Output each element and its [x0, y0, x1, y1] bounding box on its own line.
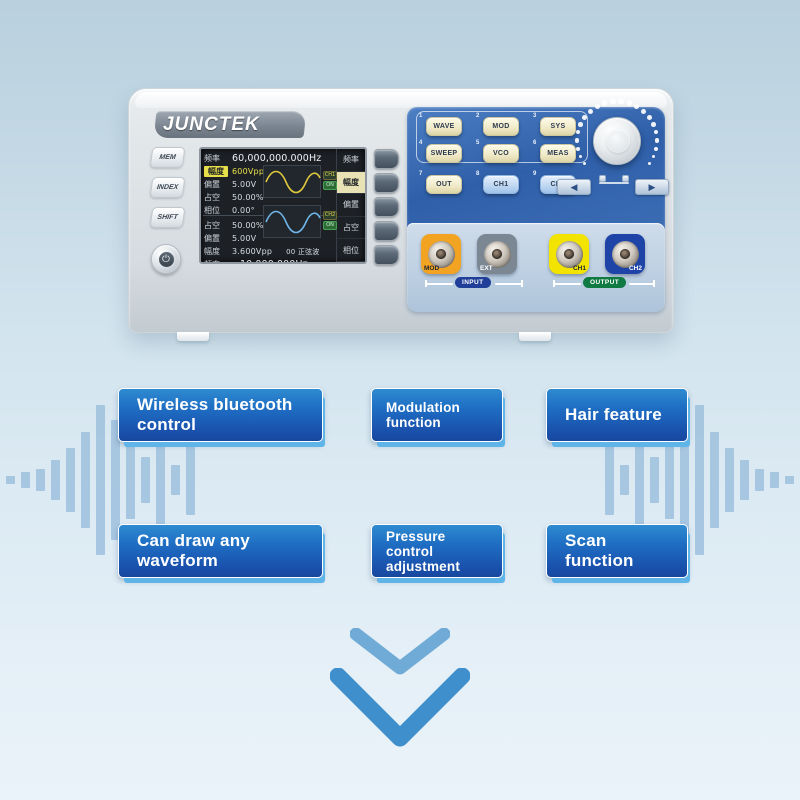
waveform-bar [66, 448, 75, 512]
waveform-bar [740, 460, 749, 500]
lcd-content: 频率 60,000,000.000Hz 幅度 600Vpp 00 正弦波 偏置 … [201, 149, 336, 262]
lcd-ch2-frequency-label: 频率 [204, 259, 228, 264]
softkey-button-4[interactable] [374, 221, 399, 241]
lcd-ch1-frequency-label: 频率 [204, 153, 228, 164]
feature-box-hair-feature[interactable]: Hair feature [546, 388, 688, 442]
waveform-bar [81, 432, 90, 528]
lcd-ch2-waveform-code: 00 正弦波 [286, 247, 319, 257]
waveform-bar [710, 432, 719, 528]
out-button[interactable]: OUT [426, 175, 462, 194]
bnc-mod-ring [428, 241, 455, 268]
feature-box-pressure-control-adjustment[interactable]: Pressure control adjustment [371, 524, 503, 578]
ch2-badge-label: CH2 [323, 211, 337, 220]
feature-box-can-draw-any-waveform[interactable]: Can draw any waveform [118, 524, 323, 578]
waveform-bar [695, 405, 704, 555]
ch1-sine-wave-icon [264, 166, 322, 199]
softkey-button-1[interactable] [374, 149, 399, 169]
feature-label-can-draw-any-waveform: Can draw any waveform [137, 531, 304, 571]
device-foot-left [177, 332, 209, 341]
lcd-ch2-offset-value: 5.00V [232, 234, 256, 243]
bnc-ch1-connector[interactable]: CH1 [549, 234, 589, 274]
bnc-ext-connector[interactable]: EXT [477, 234, 517, 274]
input-line-right [495, 283, 523, 285]
input-line-left [425, 283, 453, 285]
feature-box-wireless-bluetooth-control[interactable]: Wireless bluetooth control [118, 388, 323, 442]
device-foot-right [519, 332, 551, 341]
lcd-ch1-amplitude-value: 600Vpp [232, 167, 264, 176]
lcd-ch2-amplitude-label: 幅度 [204, 246, 228, 257]
brand-logo: JUNCTEK [163, 113, 303, 137]
output-tick-right [653, 280, 655, 287]
lcd-ch1-frequency-row: 频率 60,000,000.000Hz [204, 152, 334, 165]
bnc-ch2-connector[interactable]: CH2 [605, 234, 645, 274]
bnc-ch2-label: CH2 [629, 265, 642, 272]
chassis-top-edge [135, 92, 667, 108]
output-line-right [629, 283, 655, 285]
feature-label-modulation-function: Modulation function [386, 400, 488, 430]
ch2-badge-state: ON [323, 221, 337, 230]
bnc-mod-label: MOD [424, 265, 439, 272]
bnc-ext-ring [484, 241, 511, 268]
lcd-ch2-duty-label: 占空 [204, 220, 228, 231]
signal-generator-device: JUNCTEK MEM INDEX SHIFT ⏻ 频率 60,000,000.… [128, 88, 674, 333]
keypad-num-8: 8 [476, 171, 479, 177]
ch1-waveform-scope [263, 165, 321, 198]
softkey-label-amplitude[interactable]: 幅度 [337, 172, 365, 195]
ch1-status-badge: CH1 ON [323, 171, 337, 190]
lcd-display: 频率 60,000,000.000Hz 幅度 600Vpp 00 正弦波 偏置 … [199, 147, 367, 264]
waveform-bar [725, 448, 734, 512]
keypad-num-5: 5 [476, 140, 479, 146]
vco-button[interactable]: VCO [483, 144, 519, 163]
feature-label-scan-function: Scan function [565, 531, 669, 571]
lcd-ch2-amplitude-row: 幅度 3.600Vpp 00 正弦波 [204, 245, 334, 258]
waveform-bar [785, 476, 794, 484]
lcd-ch1-amplitude-label: 幅度 [204, 166, 228, 177]
ch1-button[interactable]: CH1 [483, 175, 519, 194]
lcd-ch1-duty-value: 50.00% [232, 193, 264, 202]
keypad-num-6: 6 [533, 140, 536, 146]
lcd-ch1-frequency-value: 60,000,000.000Hz [232, 153, 321, 164]
waveform-bar [6, 476, 15, 484]
device-chassis: JUNCTEK MEM INDEX SHIFT ⏻ 频率 60,000,000.… [128, 88, 674, 333]
feature-box-scan-function[interactable]: Scan function [546, 524, 688, 578]
keypad-num-2: 2 [476, 113, 479, 119]
output-tick-left [553, 280, 555, 287]
sweep-button[interactable]: SWEEP [426, 144, 462, 163]
bnc-ch2-ring [612, 241, 639, 268]
waveform-bar [171, 465, 180, 495]
mem-button[interactable]: MEM [150, 147, 186, 168]
lcd-softkey-labels: 频率 幅度 偏置 占空 相位 [336, 149, 365, 262]
ch1-badge-state: ON [323, 181, 337, 190]
waveform-bar [21, 472, 30, 488]
keypad-num-9: 9 [533, 171, 536, 177]
bnc-mod-connector[interactable]: MOD [421, 234, 461, 274]
waveform-bar [51, 460, 60, 500]
power-icon: ⏻ [159, 252, 174, 267]
lcd-ch1-phase-value: 0.00° [232, 206, 255, 215]
softkey-button-3[interactable] [374, 197, 399, 217]
bnc-ext-label: EXT [480, 265, 493, 272]
waveform-bar [126, 441, 135, 519]
mod-button[interactable]: MOD [483, 117, 519, 136]
waveform-bar [650, 457, 659, 503]
lcd-ch1-offset-value: 5.00V [232, 180, 256, 189]
meas-button[interactable]: MEAS [540, 144, 576, 163]
feature-label-wireless-bluetooth-control: Wireless bluetooth control [137, 395, 304, 435]
bnc-ch1-ring [556, 241, 583, 268]
feature-box-modulation-function[interactable]: Modulation function [371, 388, 503, 442]
ch2-sine-wave-icon [264, 206, 322, 239]
input-tick-left [425, 280, 427, 287]
lcd-ch1-duty-label: 占空 [204, 192, 228, 203]
waveform-bar [770, 472, 779, 488]
lcd-ch2-frequency-row: 频率 10,000.000Hz [204, 258, 334, 264]
index-button[interactable]: INDEX [150, 177, 186, 198]
ch2-button[interactable]: CH2 [540, 175, 576, 194]
keypad-num-3: 3 [533, 113, 536, 119]
keypad-num-7: 7 [419, 171, 422, 177]
waveform-bar [186, 445, 195, 515]
softkey-label-duty[interactable]: 占空 [337, 217, 365, 240]
output-group-label: OUTPUT [583, 277, 626, 288]
feature-label-pressure-control-adjustment: Pressure control adjustment [386, 529, 488, 574]
waveform-bar [605, 445, 614, 515]
waveform-bar [141, 457, 150, 503]
lcd-ch2-amplitude-value: 3.600Vpp [232, 247, 272, 256]
waveform-bar [36, 469, 45, 491]
power-button[interactable]: ⏻ [151, 244, 181, 274]
lcd-ch2-frequency-value: 10,000.000Hz [240, 259, 308, 264]
waveform-bar [755, 469, 764, 491]
chevron-down-icon-large [330, 668, 470, 750]
softkey-button-5[interactable] [374, 245, 399, 265]
lcd-ch2-offset-label: 偏置 [204, 233, 228, 244]
wave-button[interactable]: WAVE [426, 117, 462, 136]
shift-button[interactable]: SHIFT [150, 207, 186, 228]
ch2-waveform-scope [263, 205, 321, 238]
softkey-button-2[interactable] [374, 173, 399, 193]
lcd-ch1-offset-label: 偏置 [204, 179, 228, 190]
output-line-left [553, 283, 581, 285]
keypad-num-1: 1 [419, 113, 422, 119]
lcd-ch2-duty-value: 50.00% [232, 221, 264, 230]
softkey-label-frequency[interactable]: 频率 [337, 149, 365, 172]
ch1-badge-label: CH1 [323, 171, 337, 180]
softkey-label-offset[interactable]: 偏置 [337, 194, 365, 217]
bnc-ch1-label: CH1 [573, 265, 586, 272]
ch2-status-badge: CH2 ON [323, 211, 337, 230]
input-group-label: INPUT [455, 277, 491, 288]
keypad-num-4: 4 [419, 140, 422, 146]
input-tick-right [521, 280, 523, 287]
waveform-bar [620, 465, 629, 495]
waveform-bar [665, 441, 674, 519]
sys-button[interactable]: SYS [540, 117, 576, 136]
feature-label-hair-feature: Hair feature [565, 405, 662, 425]
softkey-label-phase[interactable]: 相位 [337, 239, 365, 262]
waveform-bar [96, 405, 105, 555]
